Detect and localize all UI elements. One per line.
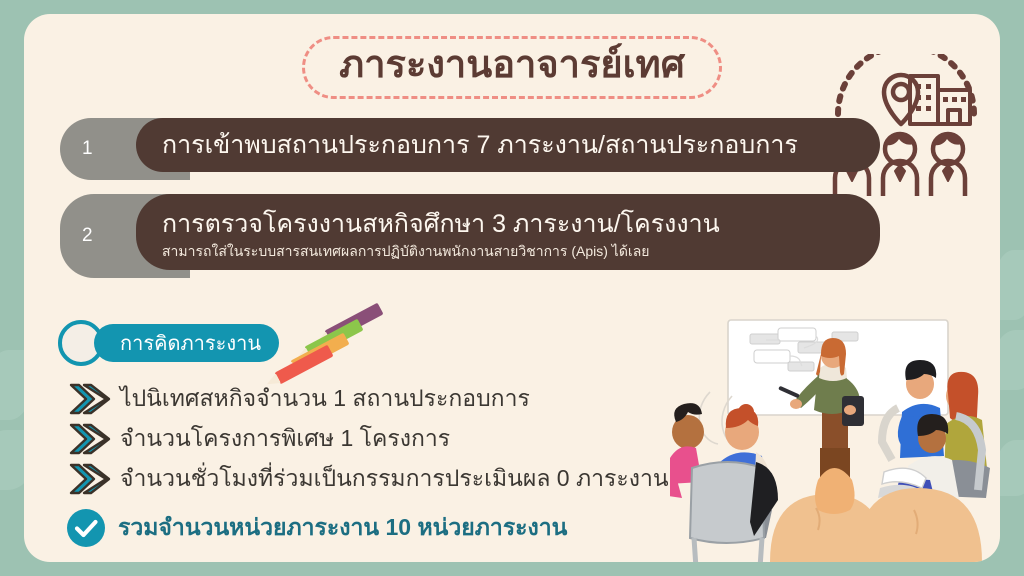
row-main-text: การเข้าพบสถานประกอบการ 7 ภาระงาน/สถานประ… bbox=[162, 131, 798, 160]
list-item-label: จำนวนชั่วโมงที่ร่วมเป็นกรรมการประเมินผล … bbox=[120, 465, 669, 493]
list-item: จำนวนโครงการพิเศษ 1 โครงการ bbox=[68, 420, 669, 458]
list-item-label: จำนวนโครงการพิเศษ 1 โครงการ bbox=[120, 425, 450, 453]
decorative-leaf bbox=[996, 440, 1024, 496]
list-item-label: ไปนิเทศสหกิจจำนวน 1 สถานประกอบการ bbox=[120, 385, 530, 413]
row-number: 2 bbox=[82, 225, 93, 247]
chevron-right-icon bbox=[68, 383, 112, 415]
classroom-presentation-illustration bbox=[670, 312, 1000, 562]
page-title-border: ภาระงานอาจารย์เทศ bbox=[302, 36, 722, 99]
list-item: จำนวนชั่วโมงที่ร่วมเป็นกรรมการประเมินผล … bbox=[68, 460, 669, 498]
row-number: 1 bbox=[82, 138, 93, 160]
check-circle-icon bbox=[66, 508, 106, 548]
row-content-pill: การตรวจโครงงานสหกิจศึกษา 3 ภาระงาน/โครงง… bbox=[136, 194, 880, 270]
summary-label: รวมจำนวนหน่วยภาระงาน 10 หน่วยภาระงาน bbox=[118, 510, 567, 546]
content-card: ภาระงานอาจารย์เทศ bbox=[24, 14, 1000, 562]
colored-markers-icon bbox=[282, 312, 402, 372]
chevron-right-icon bbox=[68, 463, 112, 495]
audience-left bbox=[670, 403, 778, 562]
chevron-right-icon bbox=[68, 423, 112, 455]
row-content-pill: การเข้าพบสถานประกอบการ 7 ภาระงาน/สถานประ… bbox=[136, 118, 880, 172]
summary-row: รวมจำนวนหน่วยภาระงาน 10 หน่วยภาระงาน bbox=[66, 508, 567, 548]
section-heading-pill: การคิดภาระงาน bbox=[94, 324, 279, 362]
list-item: ไปนิเทศสหกิจจำนวน 1 สถานประกอบการ bbox=[68, 380, 669, 418]
page-title: ภาระงานอาจารย์เทศ bbox=[339, 44, 685, 87]
slide-canvas: ภาระงานอาจารย์เทศ bbox=[0, 0, 1024, 576]
bullet-list: ไปนิเทศสหกิจจำนวน 1 สถานประกอบการ จำนวนโ… bbox=[68, 380, 669, 500]
row-main-text: การตรวจโครงงานสหกิจศึกษา 3 ภาระงาน/โครงง… bbox=[162, 210, 854, 239]
section-heading-label: การคิดภาระงาน bbox=[120, 327, 261, 359]
row-sub-text: สามารถใส่ในระบบสารสนเทศผลการปฏิบัติงานพน… bbox=[162, 242, 854, 260]
